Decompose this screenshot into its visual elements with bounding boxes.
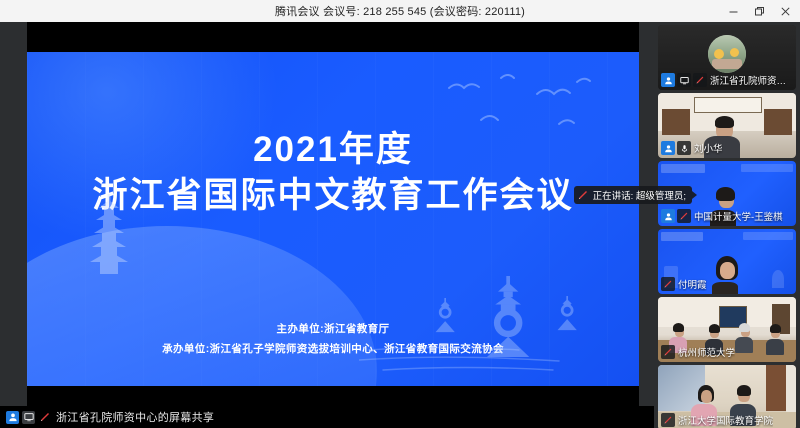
pagoda-icon (89, 194, 129, 274)
annotate-pen-icon (577, 189, 589, 201)
active-speaker-toast: 正在讲话: 超级管理员; (574, 186, 692, 204)
share-strip-icons (6, 411, 51, 424)
participant-name: 刘小华 (693, 141, 723, 155)
person-icon (661, 141, 675, 155)
annotate-pen-icon (661, 345, 675, 359)
person-icon (661, 73, 675, 87)
participant-name: 浙江省孔院师资中... (709, 73, 793, 87)
participant-tile[interactable]: 浙江大学国际教育学院 (658, 365, 796, 428)
shared-screen-surface[interactable]: 2021年度 浙江省国际中文教育工作会议 (27, 22, 639, 406)
avatar (708, 35, 746, 73)
screen-share-icon (22, 411, 35, 424)
tencent-meeting-window: 腾讯会议 会议号: 218 255 545 (会议密码: 220111) (0, 0, 800, 428)
participant-tile[interactable]: 杭州师范大学 (658, 297, 796, 362)
active-speaker-text: 正在讲话: 超级管理员; (593, 188, 686, 202)
participant-tile[interactable]: 付明霞 (658, 229, 796, 294)
window-title: 腾讯会议 会议号: 218 255 545 (会议密码: 220111) (275, 3, 525, 19)
annotate-pen-icon (661, 413, 675, 427)
microphone-icon (677, 141, 691, 155)
participant-name: 杭州师范大学 (677, 345, 735, 359)
participant-label: 杭州师范大学 (661, 345, 735, 359)
person-icon (6, 411, 19, 424)
participant-name: 付明霞 (677, 277, 707, 291)
presentation-slide: 2021年度 浙江省国际中文教育工作会议 (27, 52, 639, 386)
participant-tile[interactable]: 浙江省孔院师资中... (658, 25, 796, 90)
participant-label: 浙江大学国际教育学院 (661, 413, 773, 427)
participant-label: 中国计量大学-王鉴棋 (661, 209, 783, 223)
participant-name: 浙江大学国际教育学院 (677, 413, 773, 427)
close-icon[interactable] (772, 0, 798, 22)
window-controls (720, 0, 798, 22)
maximize-icon[interactable] (746, 0, 772, 22)
annotate-pen-icon (693, 73, 707, 87)
person-icon (661, 209, 675, 223)
annotate-pen-icon (661, 277, 675, 291)
hill-decoration (27, 226, 377, 386)
screen-share-status-text: 浙江省孔院师资中心的屏幕共享 (56, 409, 214, 425)
participant-label: 刘小华 (661, 141, 723, 155)
screen-share-status-bar: 浙江省孔院师资中心的屏幕共享 (0, 406, 654, 428)
participant-label: 浙江省孔院师资中... (661, 73, 793, 87)
water-ripples-decoration (359, 342, 629, 376)
slide-title-year: 2021年度 (27, 130, 639, 170)
toast-caret-icon (692, 191, 697, 199)
participant-tile[interactable]: 刘小华 (658, 93, 796, 158)
participant-name: 中国计量大学-王鉴棋 (693, 209, 783, 223)
participant-label: 付明霞 (661, 277, 707, 291)
minimize-icon[interactable] (720, 0, 746, 22)
window-titlebar: 腾讯会议 会议号: 218 255 545 (会议密码: 220111) (0, 0, 800, 23)
annotate-pen-icon (38, 411, 51, 424)
annotate-pen-icon (677, 209, 691, 223)
screen-share-icon (677, 73, 691, 87)
participant-video-rail[interactable]: 浙江省孔院师资中... 刘小华 (654, 22, 800, 428)
shared-screen-stage[interactable]: 2021年度 浙江省国际中文教育工作会议 (0, 22, 654, 428)
